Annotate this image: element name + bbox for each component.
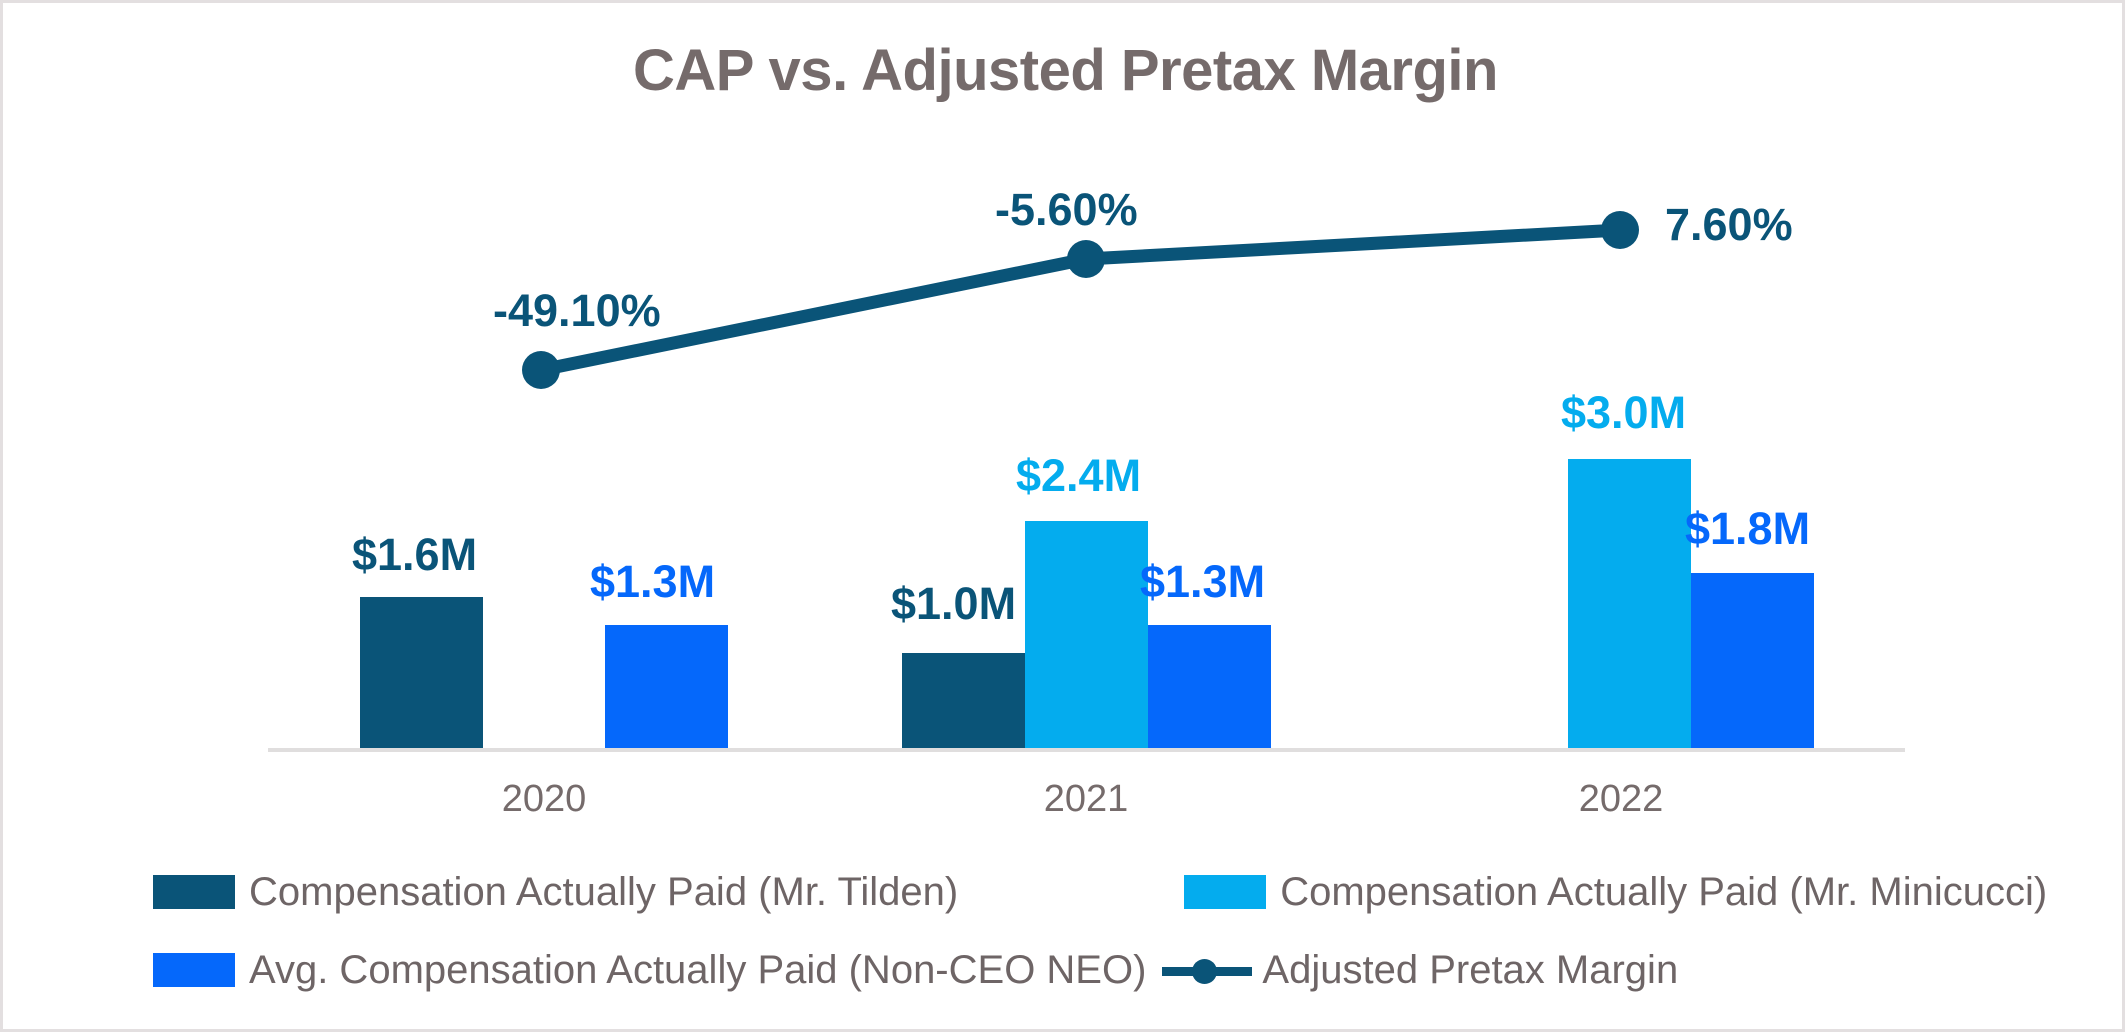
legend-swatch-icon-tilden [153,875,235,909]
legend-label-tilden: Compensation Actually Paid (Mr. Tilden) [249,870,958,915]
bar-label-2022-noncoe: $1.8M [1685,503,1810,555]
bar-2021-minicucci[interactable] [1025,521,1148,748]
legend-row-2: Avg. Compensation Actually Paid (Non-CEO… [3,931,2125,1009]
legend-swatch-icon-minicucci [1184,875,1266,909]
bar-label-2022-minicucci: $3.0M [1561,387,1686,439]
line-label-2020: -49.10% [493,285,661,337]
line-marker-2020[interactable] [522,351,560,389]
bar-2022-minicucci[interactable] [1568,459,1691,748]
legend-swatch-icon-noncoe [153,953,235,987]
x-tick-2022: 2022 [1521,778,1721,821]
legend-line-dot-icon-margin [1162,953,1252,987]
bar-label-2021-tilden: $1.0M [891,578,1016,630]
line-label-2021: -5.60% [995,184,1138,236]
legend-item-margin[interactable]: Adjusted Pretax Margin [1162,948,1678,993]
legend-row-1: Compensation Actually Paid (Mr. Tilden) … [3,853,2125,931]
bar-label-2021-noncoe: $1.3M [1140,556,1265,608]
chart-container: CAP vs. Adjusted Pretax Margin $1.6M $1.… [0,0,2125,1032]
legend-label-minicucci: Compensation Actually Paid (Mr. Minicucc… [1280,870,2047,915]
x-tick-2020: 2020 [444,778,644,821]
line-marker-2022[interactable] [1601,211,1639,249]
legend-item-tilden[interactable]: Compensation Actually Paid (Mr. Tilden) [153,870,958,915]
bar-2020-tilden[interactable] [360,597,483,748]
line-marker-2021[interactable] [1067,240,1105,278]
line-path [541,230,1620,370]
bar-2021-noncoe[interactable] [1148,625,1271,748]
chart-legend: Compensation Actually Paid (Mr. Tilden) … [3,853,2125,1009]
legend-item-noncoe[interactable]: Avg. Compensation Actually Paid (Non-CEO… [153,948,1146,993]
x-axis-line [268,748,1905,752]
bar-2020-noncoe[interactable] [605,625,728,748]
bar-2022-noncoe[interactable] [1691,573,1814,748]
legend-label-noncoe: Avg. Compensation Actually Paid (Non-CEO… [249,948,1146,993]
bar-label-2021-minicucci: $2.4M [1016,450,1141,502]
legend-label-margin: Adjusted Pretax Margin [1262,948,1678,993]
line-label-2022: 7.60% [1665,199,1793,251]
bar-label-2020-tilden: $1.6M [352,529,477,581]
bar-label-2020-noncoe: $1.3M [590,556,715,608]
x-tick-2021: 2021 [986,778,1186,821]
bar-2021-tilden[interactable] [902,653,1025,748]
legend-item-minicucci[interactable]: Compensation Actually Paid (Mr. Minicucc… [1184,870,2047,915]
